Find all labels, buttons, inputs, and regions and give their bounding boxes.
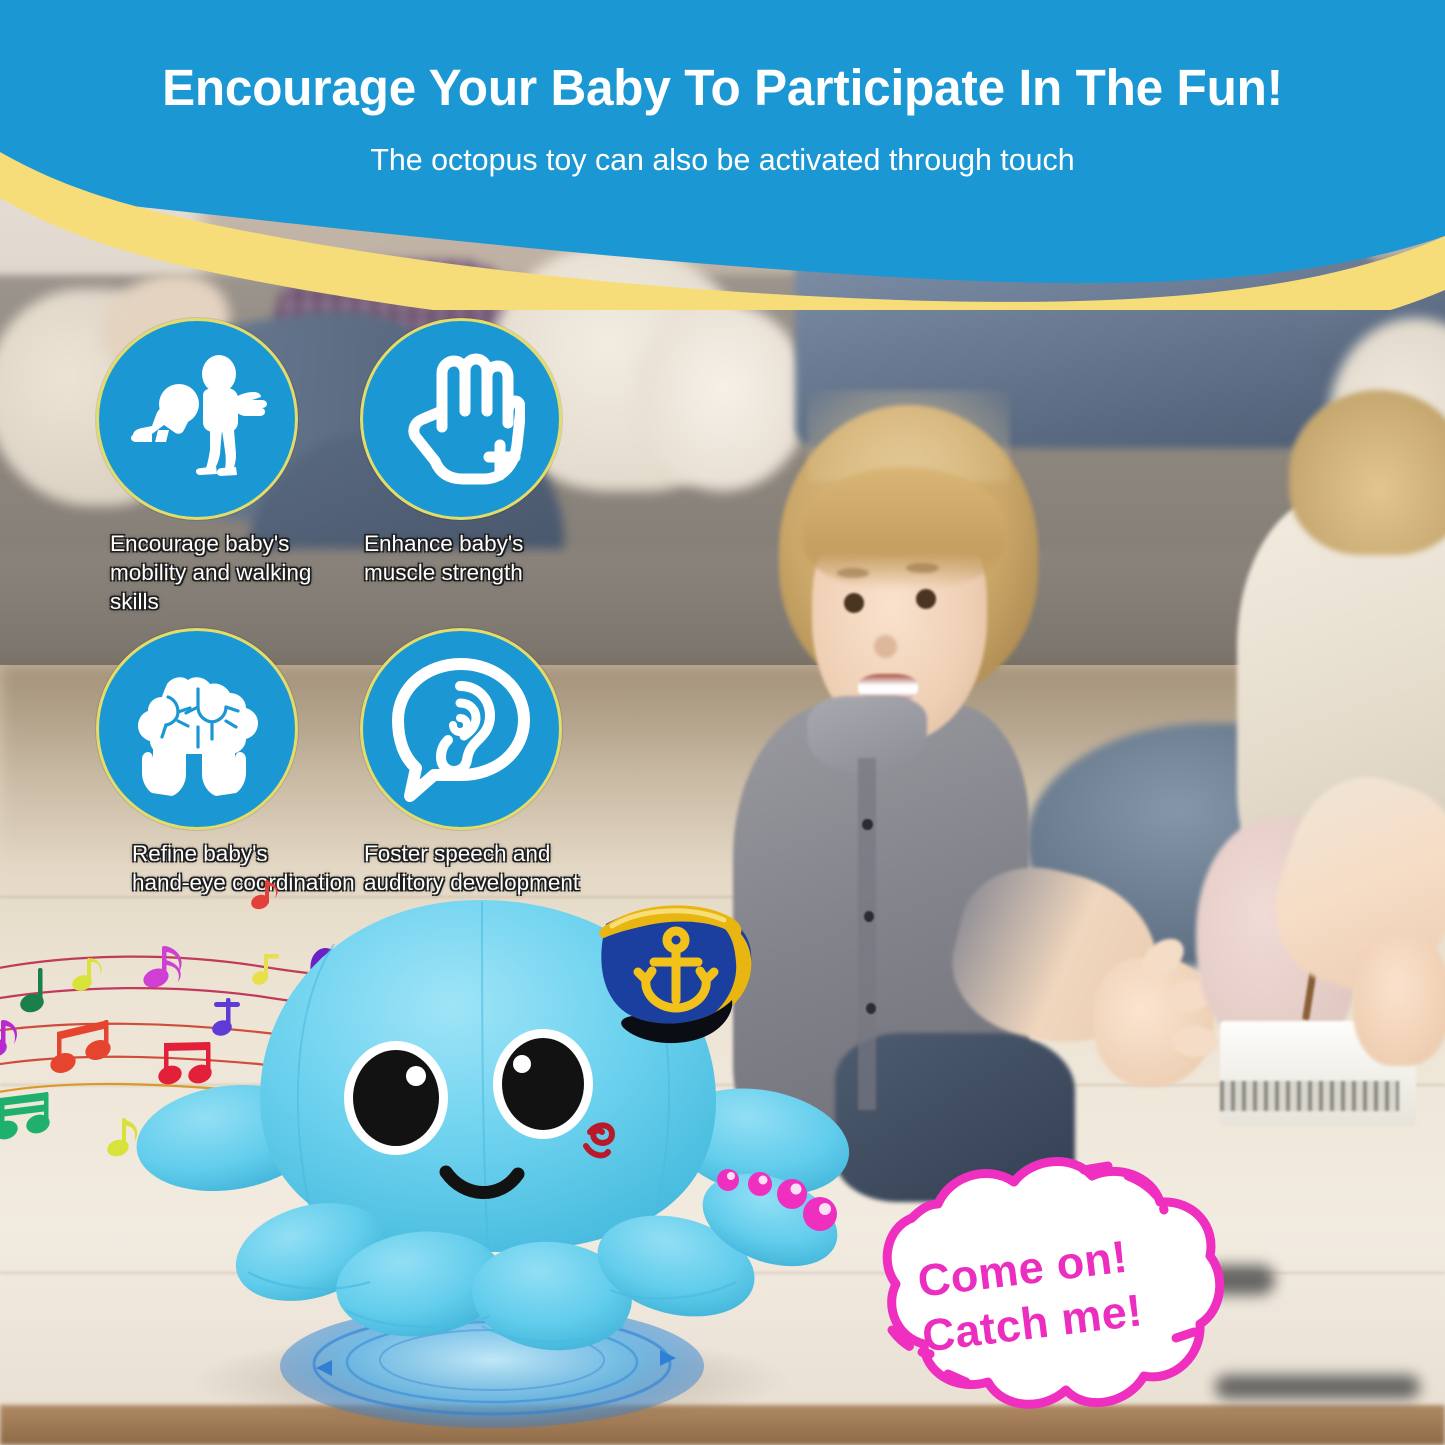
boy-eyebrow xyxy=(906,563,938,573)
eye-right-highlight xyxy=(513,1055,531,1073)
page-title: Encourage Your Baby To Participate In Th… xyxy=(22,58,1424,117)
captain-hat xyxy=(599,905,751,1043)
grasping-hand-icon xyxy=(360,318,562,520)
boy-eye xyxy=(916,589,936,609)
feature-item-mobility: Encourage baby's mobility and walking sk… xyxy=(88,318,360,616)
music-note xyxy=(0,1020,17,1059)
child-drawing xyxy=(1214,405,1445,1156)
crawling-walking-baby-icon xyxy=(96,318,298,520)
feature-label: Enhance baby's muscle strength xyxy=(364,530,588,588)
cloud-shape xyxy=(887,1162,1220,1405)
ear-speech-bubble-icon xyxy=(360,628,562,830)
header-banner: Encourage Your Baby To Participate In Th… xyxy=(0,0,1445,310)
blurred-floor-object xyxy=(1215,1375,1420,1399)
music-note xyxy=(18,968,46,1015)
brain-and-hands-icon xyxy=(96,628,298,830)
boy-eye xyxy=(844,593,864,613)
speech-bubble: Come on! Catch me! xyxy=(816,1142,1236,1445)
eye-left-pupil xyxy=(353,1050,439,1146)
feature-item-muscle: Enhance baby's muscle strength xyxy=(360,318,588,616)
feature-item-coordination: Refine baby's hand-eye coordination xyxy=(88,628,360,898)
music-note xyxy=(48,1020,114,1076)
eye-right-pupil xyxy=(502,1038,584,1130)
product-marketing-poster: Encourage Your Baby To Participate In Th… xyxy=(0,0,1445,1445)
feature-badge-grid: Encourage baby's mobility and walking sk… xyxy=(88,318,588,898)
eye-left-highlight xyxy=(406,1066,426,1086)
boy-eyebrow xyxy=(837,568,869,578)
blue-octopus-plush-toy xyxy=(120,880,920,1440)
boy-shirt-button xyxy=(862,819,872,830)
child-hair xyxy=(1289,390,1445,555)
child-hand xyxy=(1353,931,1445,1066)
boy-fringe xyxy=(802,467,1005,590)
music-note xyxy=(0,1092,52,1143)
boy-nose xyxy=(874,635,897,658)
page-subtitle: The octopus toy can also be activated th… xyxy=(14,142,1430,178)
feature-item-speech: Foster speech and auditory development xyxy=(360,628,588,898)
notepad-spiral-binding xyxy=(1220,1081,1399,1111)
feature-label: Encourage baby's mobility and walking sk… xyxy=(110,530,360,616)
